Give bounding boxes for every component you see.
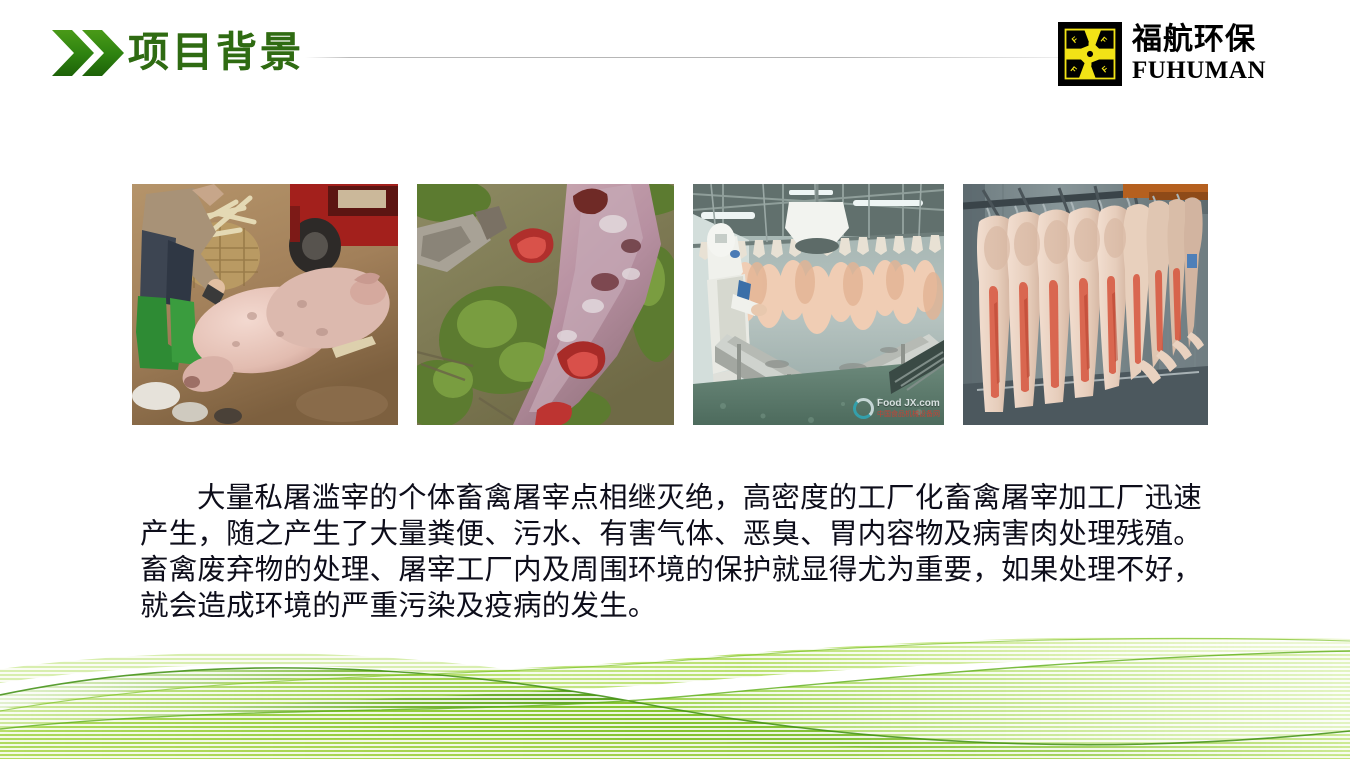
company-logo: F F F F 福航环保 bbox=[1058, 22, 1266, 86]
logo-english-name: FUHUMAN bbox=[1132, 58, 1266, 83]
photo-backyard-pig-slaughter bbox=[132, 184, 398, 425]
logo-wordmark: 福航环保 FUHUMAN bbox=[1132, 25, 1266, 83]
logo-chinese-name: 福航环保 bbox=[1132, 25, 1266, 55]
page-title: 项目背景 bbox=[128, 26, 304, 78]
photo-hanging-pig-carcasses bbox=[963, 184, 1208, 425]
photo-blood-wastewater-runoff bbox=[417, 184, 674, 425]
header-divider bbox=[305, 57, 1065, 58]
slide-header: 项目背景 F F F F bbox=[0, 0, 1350, 110]
double-chevron-right-icon bbox=[50, 28, 126, 78]
slide-canvas: 项目背景 F F F F bbox=[0, 0, 1350, 759]
green-swoosh-wave bbox=[0, 599, 1350, 759]
photo-gallery: Food JX.com 中国食品机械设备网 bbox=[132, 184, 1200, 425]
fuhuman-emblem-icon: F F F F bbox=[1058, 22, 1122, 86]
photo-poultry-processing-line: Food JX.com 中国食品机械设备网 bbox=[693, 184, 944, 425]
